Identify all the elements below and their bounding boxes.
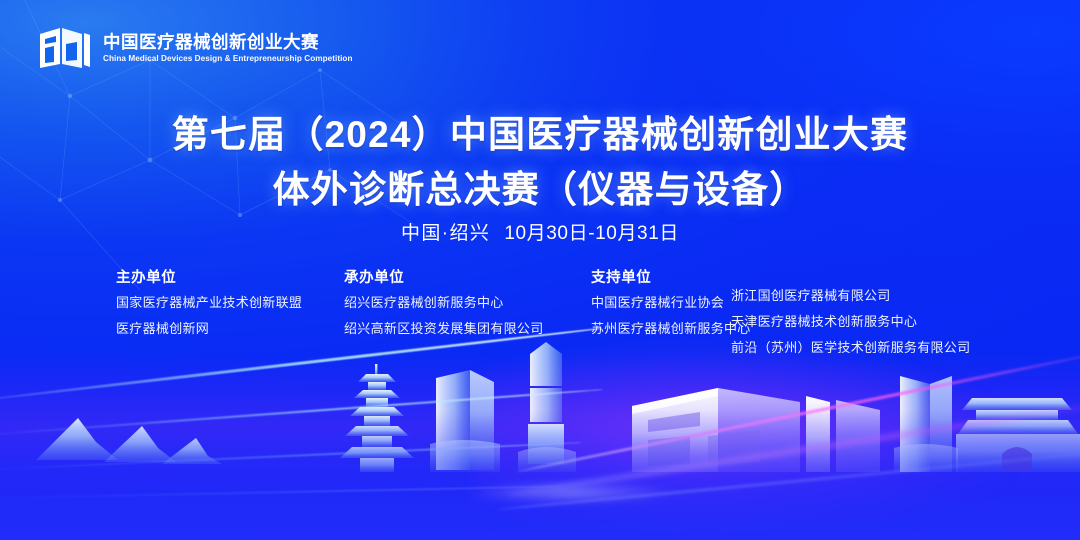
organizer-heading: 支持单位 [591, 266, 731, 287]
organizer-column-host: 主办单位 国家医疗器械产业技术创新联盟 医疗器械创新网 [116, 266, 344, 348]
title-line-2: 体外诊断总决赛（仪器与设备） [0, 163, 1080, 218]
organizer-item: 国家医疗器械产业技术创新联盟 [116, 296, 344, 309]
organizer-item: 中国医疗器械行业协会 [591, 296, 731, 309]
bottom-fade [0, 410, 1080, 540]
organizer-item: 医疗器械创新网 [116, 322, 344, 335]
poster-canvas: 中国医疗器械创新创业大赛 China Medical Devices Desig… [0, 0, 1080, 540]
organizer-item: 天津医疗器械技术创新服务中心 [731, 315, 991, 328]
organizer-column-organizer: 承办单位 绍兴医疗器械创新服务中心 绍兴高新区投资发展集团有限公司 [344, 266, 591, 348]
page-title: 第七届（2024）中国医疗器械创新创业大赛 体外诊断总决赛（仪器与设备） [0, 108, 1080, 218]
organizer-column-supporter-a: 支持单位 中国医疗器械行业协会 苏州医疗器械创新服务中心 [591, 266, 731, 348]
organizer-heading: 承办单位 [344, 266, 591, 287]
cmdc-open-panels-logo-icon [38, 24, 92, 72]
organizer-item: 绍兴高新区投资发展集团有限公司 [344, 322, 591, 335]
organizer-item: 浙江国创医疗器械有限公司 [731, 289, 991, 302]
brand-name-cn: 中国医疗器械创新创业大赛 [103, 32, 353, 52]
organizer-item: 前沿（苏州）医学技术创新服务有限公司 [731, 341, 991, 354]
event-dates: 10月30日-10月31日 [504, 223, 679, 244]
brand-name-en: China Medical Devices Design & Entrepren… [103, 54, 353, 64]
event-location: 中国·绍兴 [401, 223, 490, 244]
organizer-item: 苏州医疗器械创新服务中心 [591, 322, 731, 335]
event-subtitle: 中国·绍兴10月30日-10月31日 [0, 218, 1080, 245]
title-line-1: 第七届（2024）中国医疗器械创新创业大赛 [0, 108, 1080, 163]
organizers-section: 主办单位 国家医疗器械产业技术创新联盟 医疗器械创新网 承办单位 绍兴医疗器械创… [116, 266, 991, 367]
organizer-column-supporter-b: 浙江国创医疗器械有限公司 天津医疗器械技术创新服务中心 前沿（苏州）医学技术创新… [731, 266, 991, 367]
organizer-item: 绍兴医疗器械创新服务中心 [344, 296, 591, 309]
brand-logo: 中国医疗器械创新创业大赛 China Medical Devices Desig… [38, 24, 353, 72]
organizer-heading: 主办单位 [116, 266, 344, 287]
